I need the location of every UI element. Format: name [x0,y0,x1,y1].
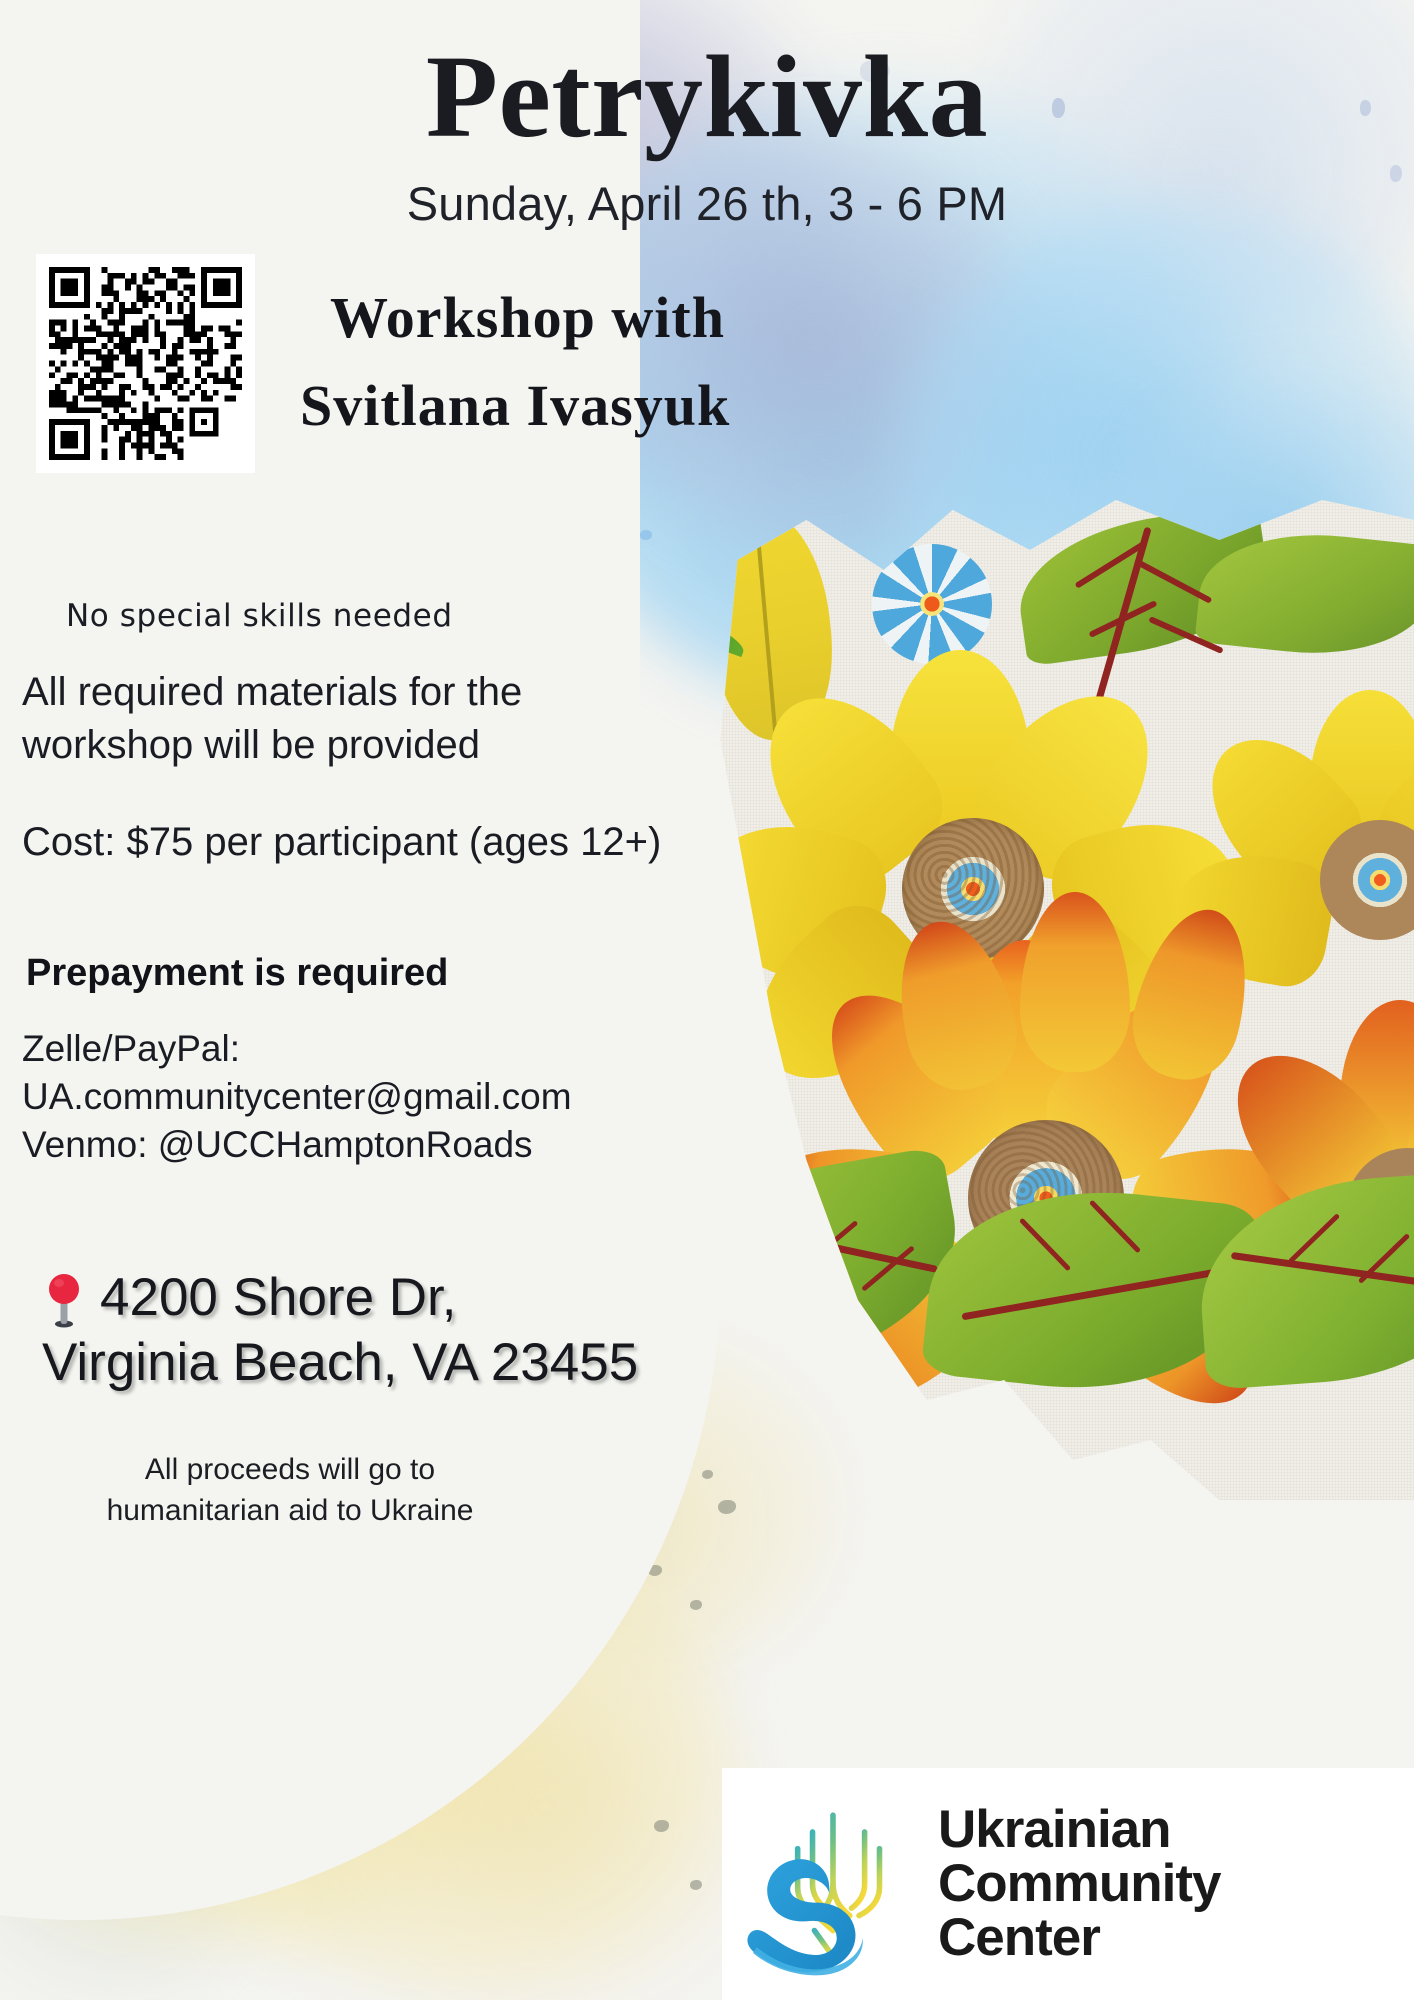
paint-splatter [654,1820,669,1832]
address-line-2: Virginia Beach, VA 23455 [42,1331,742,1396]
paint-splatter [702,1470,713,1479]
payment-venmo[interactable]: Venmo: @UCCHamptonRoads [22,1121,662,1169]
ukrainian-community-center-logo: Ukrainian Community Center [722,1768,1414,2000]
logo-line-1: Ukrainian [938,1803,1221,1857]
logo-wordmark: Ukrainian Community Center [938,1803,1221,1965]
page-title: Petrykivka [0,38,1414,156]
payment-info: Zelle/PayPal: UA.communitycenter@gmail.c… [22,1025,662,1169]
flyer-root: Petrykivka Sunday, April 26 th, 3 - 6 PM… [0,0,1414,2000]
materials-note: All required materials for the workshop … [22,666,622,772]
paint-splatter [690,1600,702,1610]
prepayment-heading: Prepayment is required [26,952,448,995]
instructor-name: Svitlana Ivasyuk [300,372,730,439]
event-datetime: Sunday, April 26 th, 3 - 6 PM [0,176,1414,231]
workshop-label: Workshop with [330,284,725,351]
wave-icon [747,1859,862,1975]
paint-splatter [690,1880,702,1890]
address-line-1: 4200 Shore Dr, [42,1266,742,1331]
no-skills-note: No special skills needed [66,598,453,634]
qr-code[interactable] [36,254,255,473]
ucc-logo-mark [740,1791,926,1977]
logo-line-2: Community [938,1857,1221,1911]
blue-daisy [872,544,992,664]
paint-speckle [640,530,652,540]
venue-address: 4200 Shore Dr, Virginia Beach, VA 23455 [42,1266,742,1395]
cost-note: Cost: $75 per participant (ages 12+) [22,820,661,865]
paint-splatter [718,1500,736,1514]
proceeds-note: All proceeds will go to humanitarian aid… [60,1450,520,1531]
payment-email[interactable]: UA.communitycenter@gmail.com [22,1073,662,1121]
logo-line-3: Center [938,1911,1221,1965]
qr-code-canvas [49,267,242,460]
leaf-vein [737,1198,794,1247]
payment-zelle-label: Zelle/PayPal: [22,1025,662,1073]
